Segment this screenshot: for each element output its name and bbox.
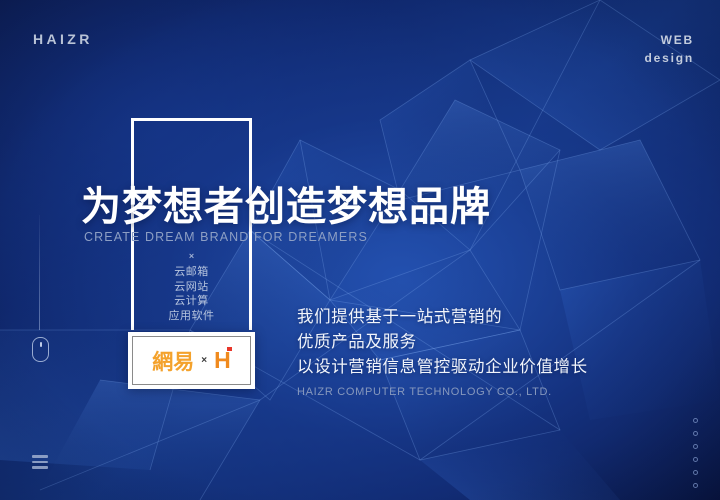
slide-dot[interactable] bbox=[693, 444, 698, 449]
hamburger-bar bbox=[32, 455, 48, 458]
service-list: 云邮箱 云网站 云计算 应用软件 bbox=[131, 265, 252, 323]
slide-dot[interactable] bbox=[693, 431, 698, 436]
page-subtitle: CREATE DREAM BRAND FOR DREAMERS bbox=[84, 230, 368, 244]
list-item[interactable]: 应用软件 bbox=[131, 309, 252, 324]
slide-dot[interactable] bbox=[693, 470, 698, 475]
slide-indicator-dots[interactable] bbox=[693, 418, 698, 488]
netease-logo: 網易 bbox=[152, 346, 194, 376]
description-line-2: 优质产品及服务 bbox=[297, 330, 588, 355]
site-logo[interactable]: HAIZR bbox=[33, 31, 93, 47]
hamburger-bar bbox=[32, 466, 48, 469]
haizr-mark-logo: H bbox=[214, 349, 231, 372]
top-right-tagline: WEB design bbox=[645, 31, 694, 67]
list-item[interactable]: 云网站 bbox=[131, 280, 252, 295]
slide-dot[interactable] bbox=[693, 457, 698, 462]
tagline-line-2: design bbox=[645, 49, 694, 67]
slide-dot[interactable] bbox=[693, 483, 698, 488]
mouse-scroll-icon[interactable] bbox=[32, 337, 49, 362]
hamburger-bar bbox=[32, 461, 48, 464]
polygon-background bbox=[0, 0, 720, 500]
partner-logo-box: 網易 × H bbox=[128, 332, 255, 389]
tagline-line-1: WEB bbox=[645, 31, 694, 49]
description-line-1: 我们提供基于一站式营销的 bbox=[297, 305, 588, 330]
company-name-english: HAIZR COMPUTER TECHNOLOGY CO., LTD. bbox=[297, 385, 588, 399]
hamburger-menu-icon[interactable] bbox=[32, 455, 48, 469]
scroll-rail-line bbox=[39, 215, 40, 330]
list-item[interactable]: 云计算 bbox=[131, 294, 252, 309]
description-line-3: 以设计营销信息管控驱动企业价值增长 bbox=[297, 355, 588, 380]
partnership-x-icon: × bbox=[201, 355, 207, 366]
hero-slide: HAIZR WEB design 为梦想者创造梦想品牌 CREATE DREAM… bbox=[0, 0, 720, 500]
slide-dot[interactable] bbox=[693, 418, 698, 423]
list-item[interactable]: 云邮箱 bbox=[131, 265, 252, 280]
service-list-marker: × bbox=[131, 251, 252, 261]
description-block: 我们提供基于一站式营销的 优质产品及服务 以设计营销信息管控驱动企业价值增长 H… bbox=[297, 305, 588, 399]
page-title: 为梦想者创造梦想品牌 bbox=[81, 184, 491, 230]
